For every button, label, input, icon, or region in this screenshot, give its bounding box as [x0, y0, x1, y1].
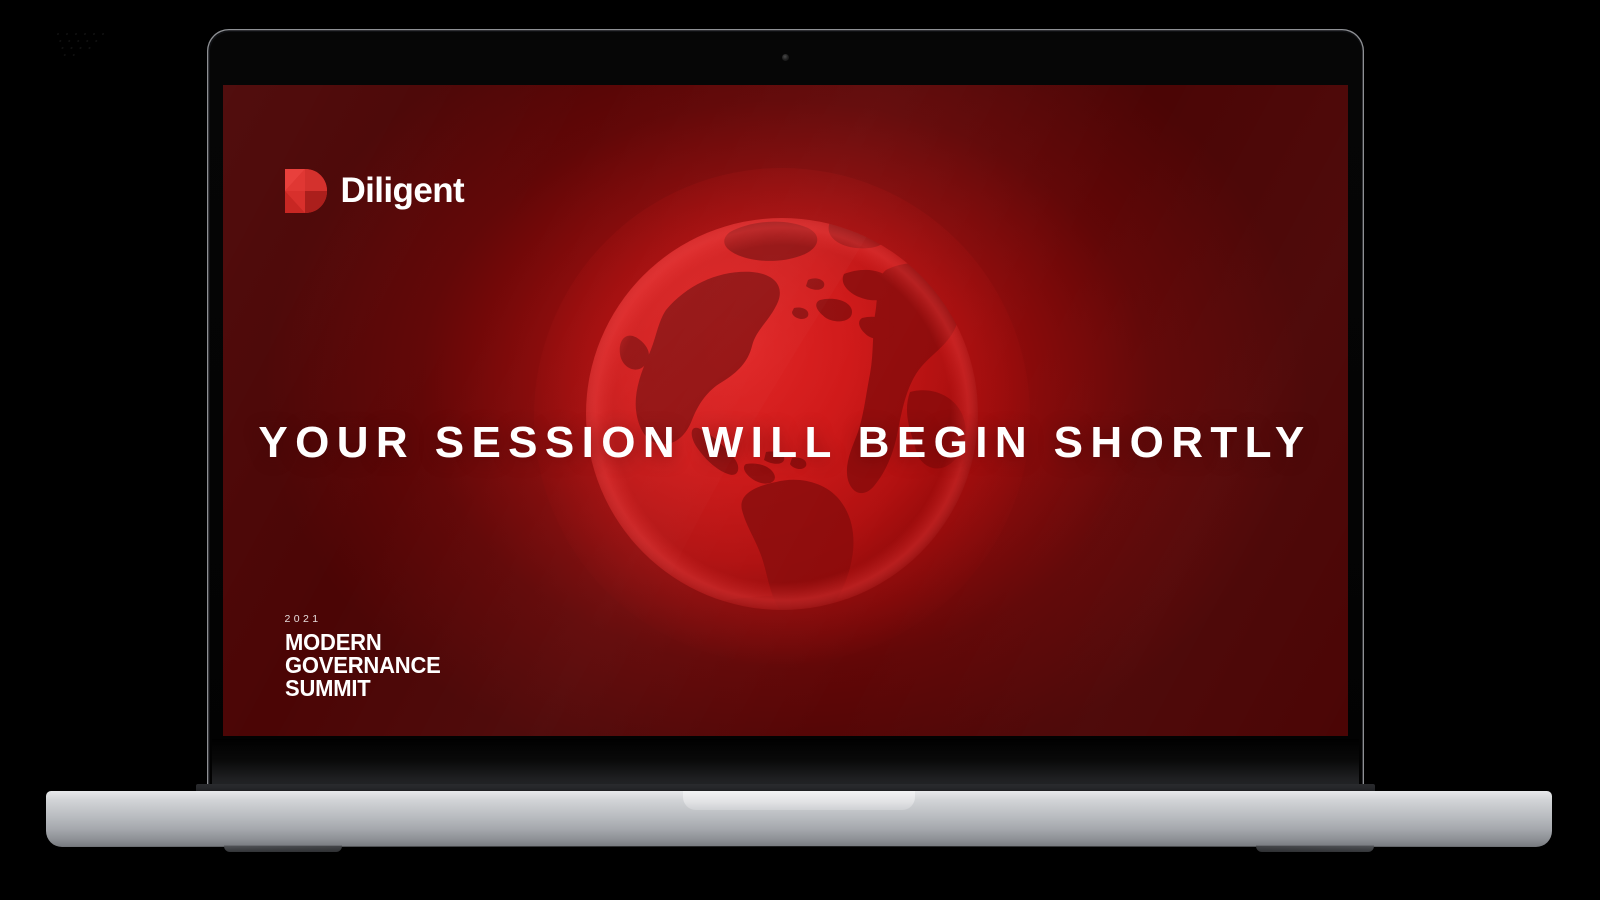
summit-line-summit: SUMMIT	[285, 677, 441, 700]
laptop-screen: Diligent YOUR SESSION WILL BEGIN SHORTLY…	[223, 85, 1348, 736]
laptop-mockup: Diligent YOUR SESSION WILL BEGIN SHORTLY…	[0, 0, 1600, 900]
diligent-d-logo-icon	[285, 169, 327, 213]
laptop-drop-shadow	[40, 846, 1558, 860]
diligent-brand-lockup: Diligent	[285, 169, 465, 213]
screenshot-stage: Diligent YOUR SESSION WILL BEGIN SHORTLY…	[0, 0, 1600, 900]
summit-logo-lockup: 2021 MODERN GOVERNANCE SUMMIT	[285, 614, 451, 700]
laptop-bezel: Diligent YOUR SESSION WILL BEGIN SHORTLY…	[210, 32, 1362, 792]
webcam-dot	[782, 54, 789, 61]
laptop-base-notch	[683, 791, 915, 810]
summit-line-modern: MODERN	[285, 631, 441, 654]
presentation-slide: Diligent YOUR SESSION WILL BEGIN SHORTLY…	[223, 85, 1348, 736]
laptop-base	[46, 791, 1552, 847]
diligent-wordmark: Diligent	[341, 173, 465, 208]
summit-year: 2021	[285, 614, 451, 625]
laptop-lid: Diligent YOUR SESSION WILL BEGIN SHORTLY…	[207, 29, 1364, 791]
summit-line-governance: GOVERNANCE	[285, 654, 441, 677]
page-title: YOUR SESSION WILL BEGIN SHORTLY	[223, 421, 1348, 465]
